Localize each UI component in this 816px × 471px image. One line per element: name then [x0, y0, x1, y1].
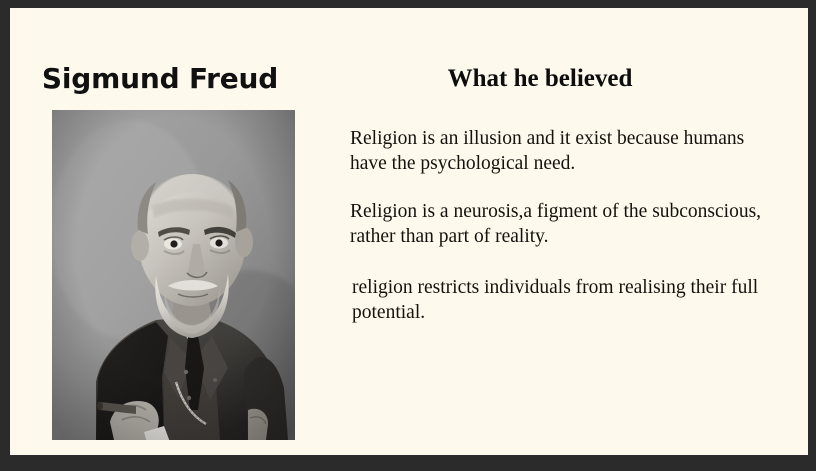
slide-canvas: Sigmund Freud — [10, 8, 808, 455]
portrait-photo-frame — [52, 110, 295, 440]
right-column: What he believed Religion is an illusion… — [330, 8, 808, 455]
belief-paragraph: Religion is an illusion and it exist bec… — [350, 126, 772, 176]
belief-paragraph: Religion is a neurosis,a figment of the … — [350, 199, 798, 249]
section-heading: What he believed — [330, 64, 750, 94]
slide-frame: Sigmund Freud — [0, 0, 816, 471]
page-title: Sigmund Freud — [10, 63, 310, 95]
left-column: Sigmund Freud — [10, 8, 330, 455]
belief-paragraph: religion restricts individuals from real… — [352, 275, 792, 325]
belief-list: Religion is an illusion and it exist bec… — [350, 126, 802, 325]
portrait-photo — [52, 110, 295, 440]
